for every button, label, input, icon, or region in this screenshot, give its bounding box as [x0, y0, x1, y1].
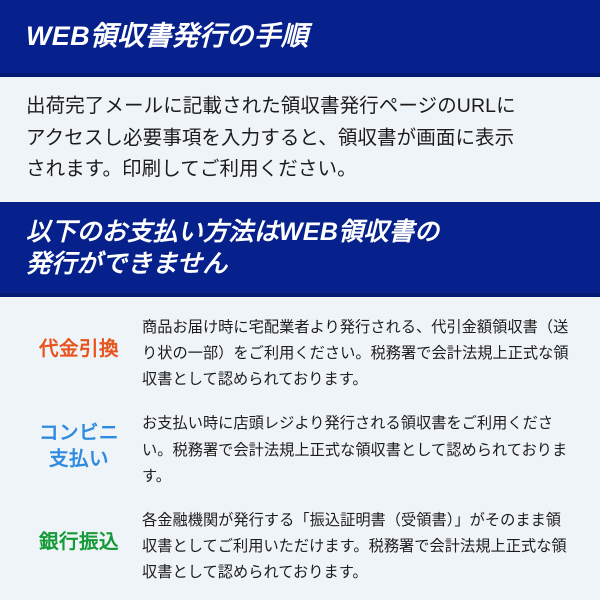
payment-method-row-bank-transfer: 銀行振込 各金融機関が発行する「振込証明書（受領書）」がそのまま領収書としてご利…	[0, 500, 600, 596]
receipt-info-page: WEB領収書発行の手順 出荷完了メールに記載された領収書発行ページのURLに ア…	[0, 0, 600, 600]
primary-heading-band: WEB領収書発行の手順	[0, 0, 600, 77]
intro-section: 出荷完了メールに記載された領収書発行ページのURLに アクセスし必要事項を入力す…	[0, 77, 600, 199]
payment-method-description-konbini: お支払い時に店頭レジより発行される領収書をご利用ください。税務署で会計法規上正式…	[142, 411, 584, 489]
primary-heading-text: WEB領収書発行の手順	[26, 20, 308, 53]
secondary-heading-text: 以下のお支払い方法はWEB領収書の 発行ができません	[26, 216, 439, 280]
payment-methods-list: 代金引換 商品お届け時に宅配業者より発行される、代引金額領収書（送り状の一部）を…	[0, 297, 600, 596]
payment-method-label-cod: 代金引換	[16, 315, 142, 362]
payment-method-description-cod: 商品お届け時に宅配業者より発行される、代引金額領収書（送り状の一部）をご利用くだ…	[142, 315, 584, 393]
payment-method-row-cod: 代金引換 商品お届け時に宅配業者より発行される、代引金額領収書（送り状の一部）を…	[0, 307, 600, 403]
payment-method-description-bank-transfer: 各金融機関が発行する「振込証明書（受領書）」がそのまま領収書としてご利用いただけ…	[142, 508, 584, 586]
payment-method-row-konbini: コンビニ 支払い お支払い時に店頭レジより発行される領収書をご利用ください。税務…	[0, 403, 600, 499]
intro-paragraph: 出荷完了メールに記載された領収書発行ページのURLに アクセスし必要事項を入力す…	[26, 91, 574, 186]
payment-method-label-bank-transfer: 銀行振込	[16, 508, 142, 555]
secondary-heading-band: 以下のお支払い方法はWEB領収書の 発行ができません	[0, 202, 600, 297]
payment-method-label-konbini: コンビニ 支払い	[16, 411, 142, 472]
